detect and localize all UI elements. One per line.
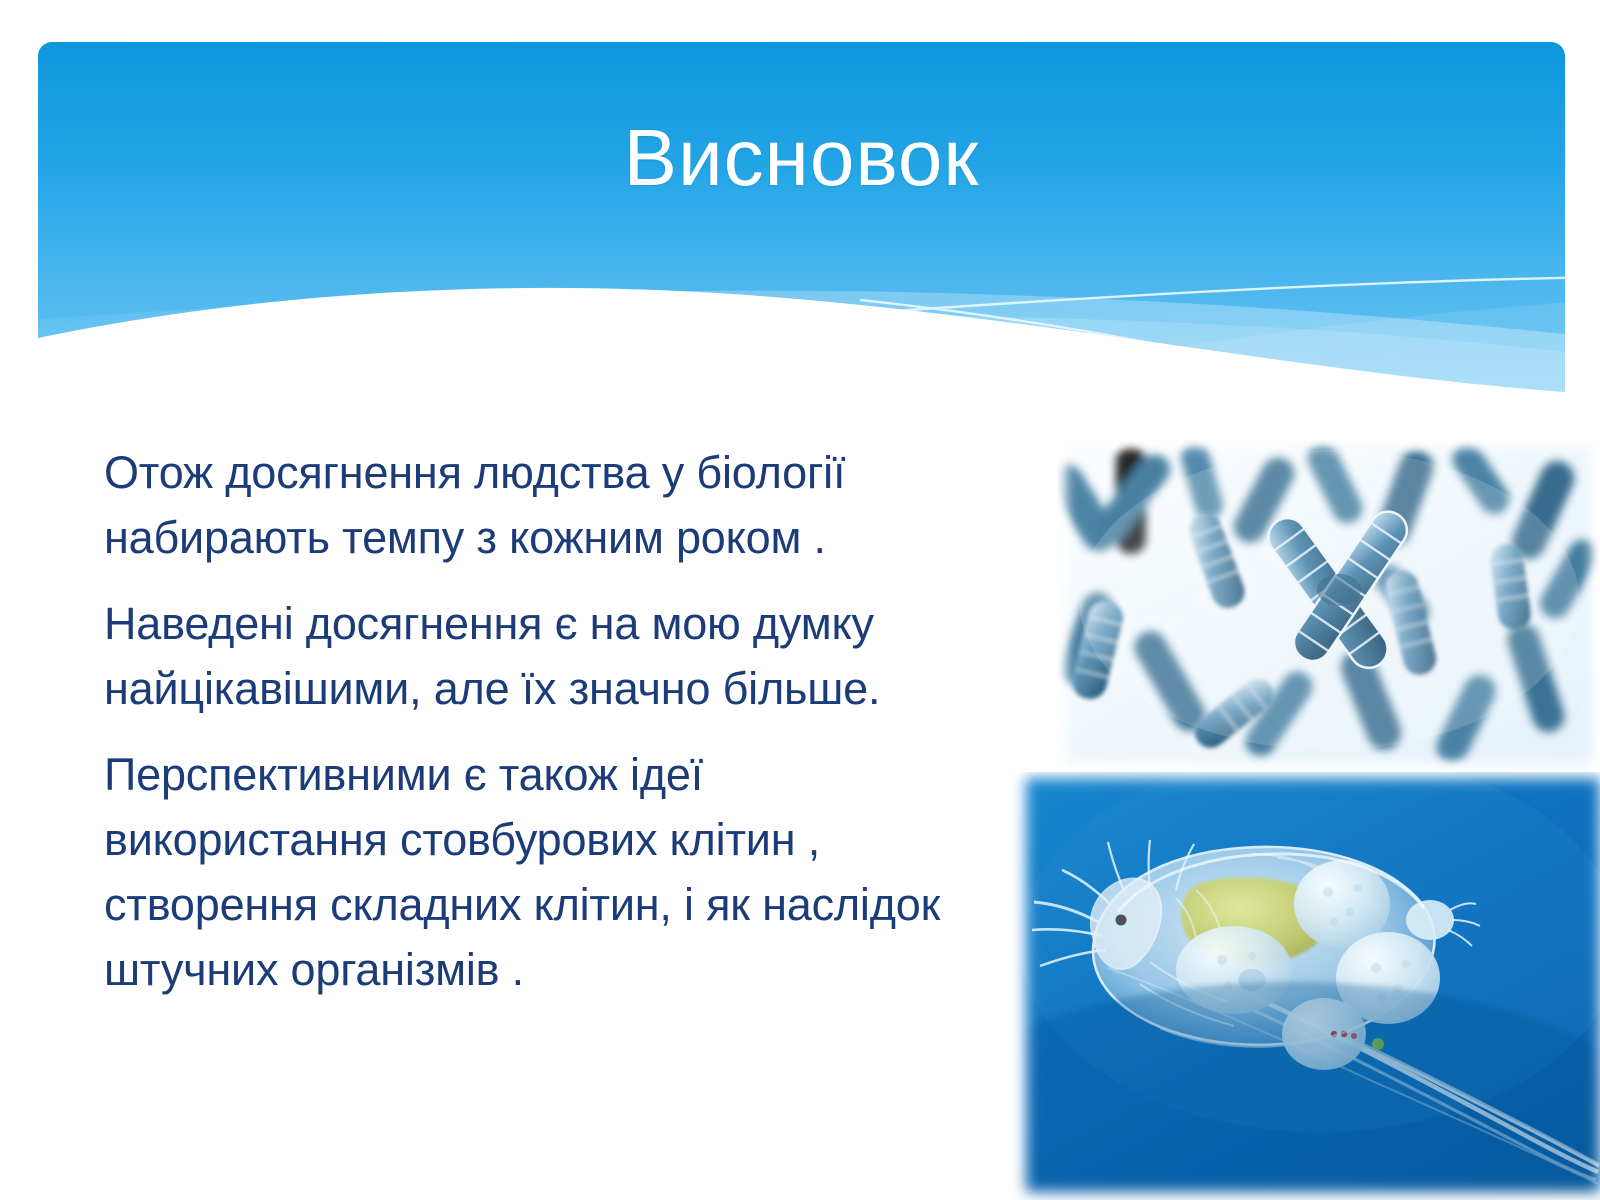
body-paragraph-1: Отож досягнення людства у біології набир… (104, 440, 984, 570)
body-paragraph-2: Наведені досягнення є на мою думку найці… (104, 591, 984, 721)
daphnia-micrograph-image (990, 772, 1600, 1200)
page-title: Висновок (38, 118, 1565, 198)
body-paragraph-3: Перспективними є також ідеї використання… (104, 742, 984, 1002)
chromosome-micrograph-image (1058, 440, 1600, 770)
presentation-slide: Висновок Отож досягнення людства у біоло… (0, 0, 1600, 1200)
body-text-block: Отож досягнення людства у біології набир… (104, 440, 984, 1023)
header-banner (0, 0, 1600, 420)
